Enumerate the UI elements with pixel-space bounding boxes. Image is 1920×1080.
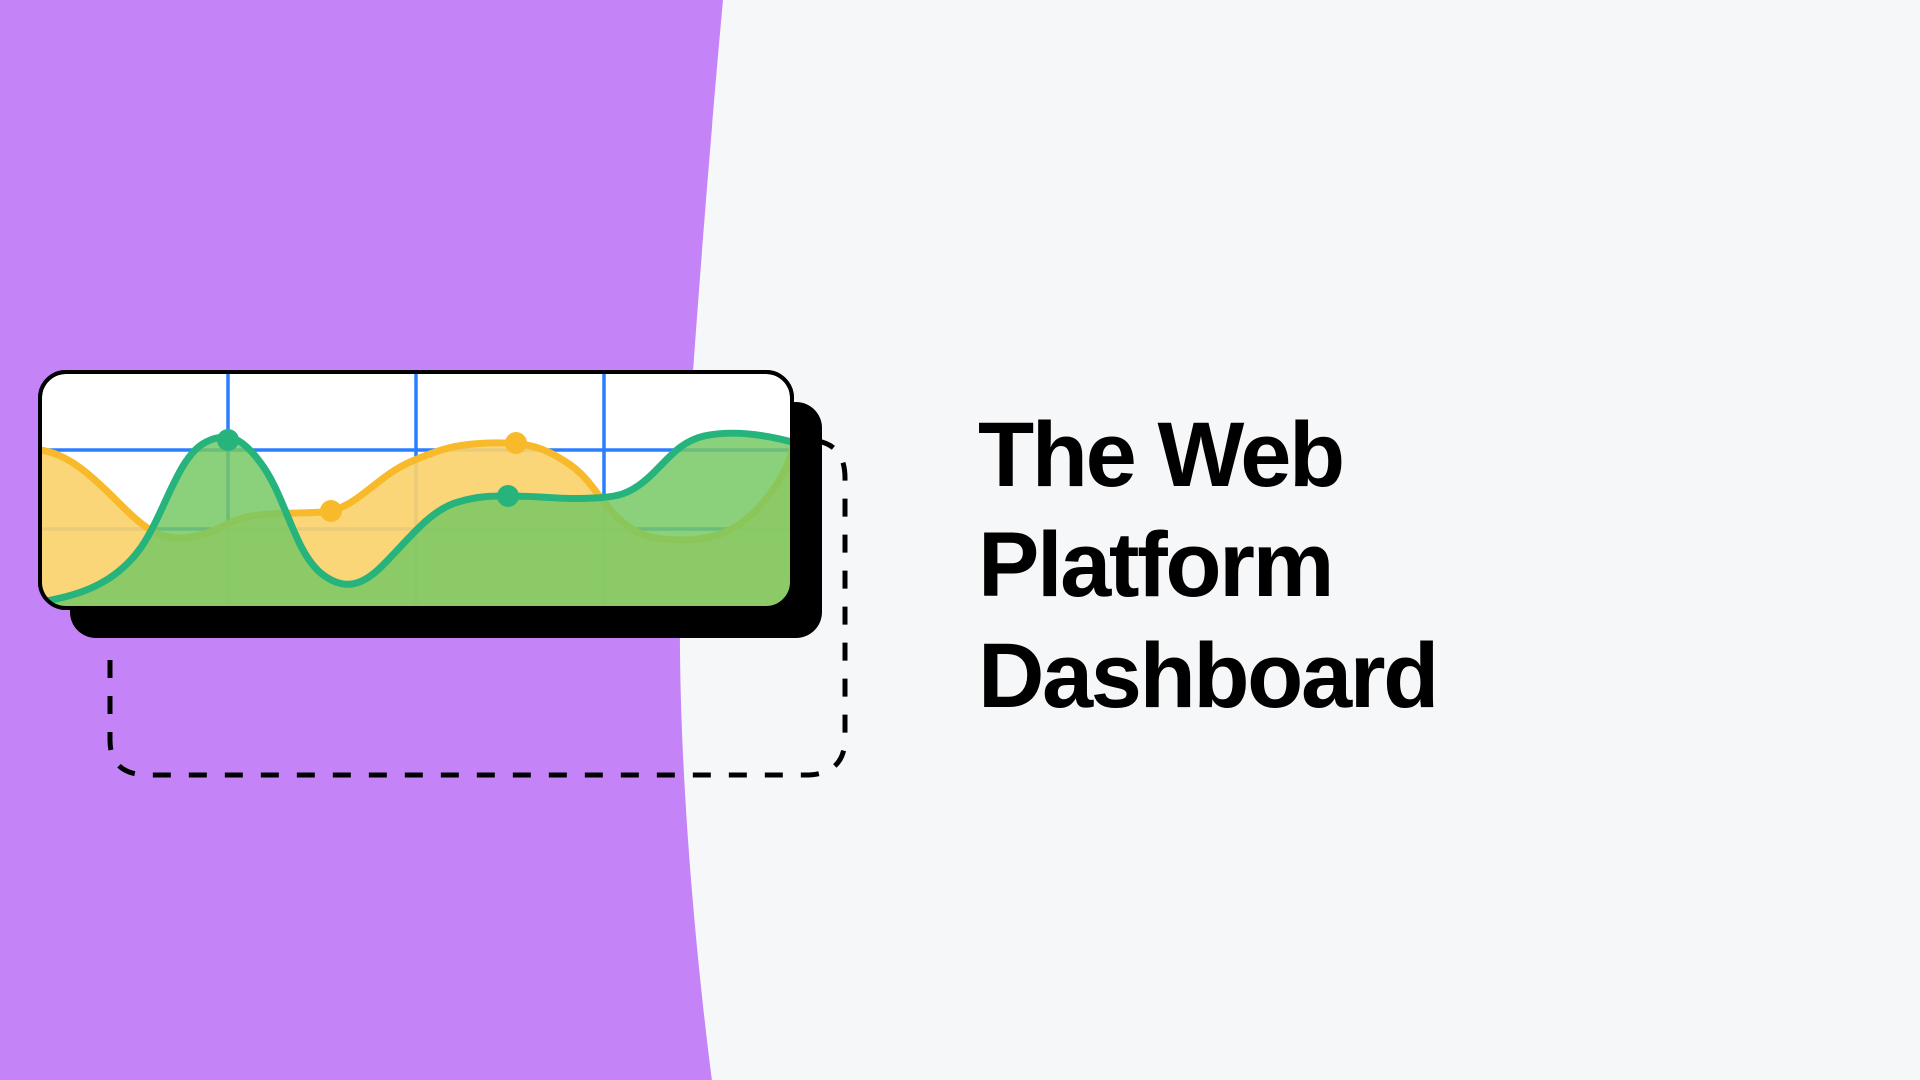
page-title-line-3: Dashboard bbox=[978, 621, 1738, 731]
marker-yellow-left[interactable] bbox=[320, 500, 342, 522]
marker-green-peak[interactable] bbox=[217, 429, 239, 451]
slide-canvas: The Web Platform Dashboard bbox=[0, 0, 1920, 1080]
page-title-line-2: Platform bbox=[978, 510, 1738, 620]
chart-card-svg[interactable] bbox=[38, 370, 828, 670]
chart-card[interactable] bbox=[38, 370, 828, 670]
page-title-line-1: The Web bbox=[978, 400, 1738, 510]
page-title: The Web Platform Dashboard bbox=[978, 400, 1738, 731]
marker-green-mid[interactable] bbox=[497, 485, 519, 507]
marker-yellow-peak[interactable] bbox=[505, 432, 527, 454]
